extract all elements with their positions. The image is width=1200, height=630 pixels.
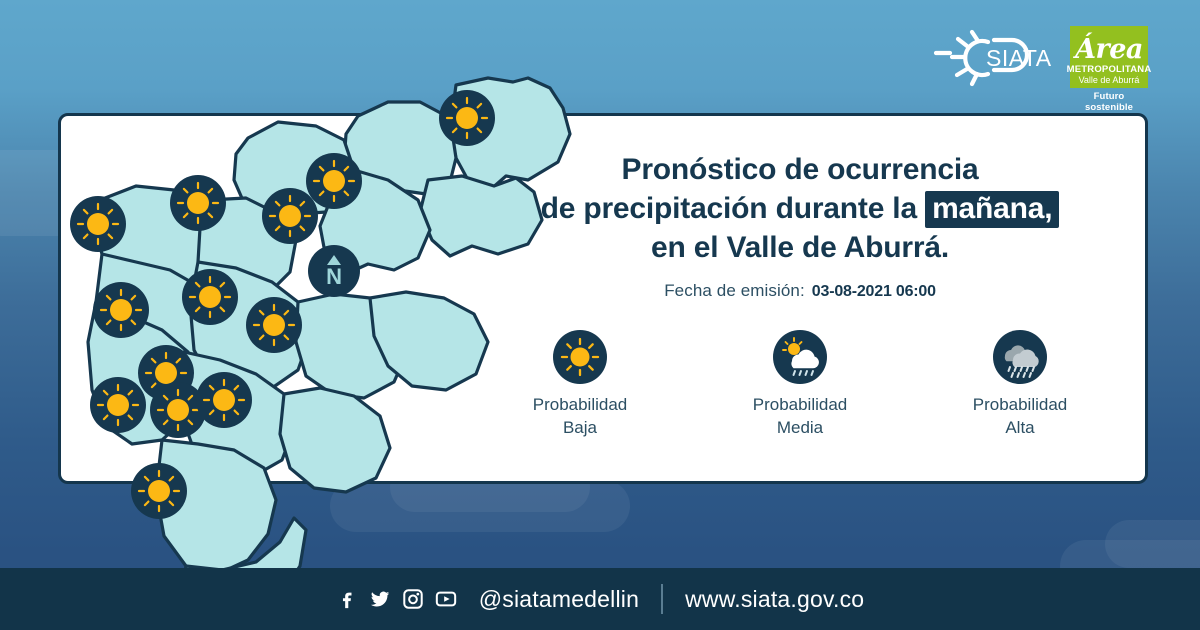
station-marker: [262, 188, 318, 244]
logo-group: SIATA Área METROPOLITANA Valle de Aburrá…: [928, 26, 1148, 113]
siata-logo: SIATA: [928, 26, 1056, 90]
station-marker: [170, 175, 226, 231]
cloud-heavy-rain-icon: [993, 330, 1047, 384]
station-marker: [70, 196, 126, 252]
page-title: Pronóstico de ocurrencia de precipitació…: [470, 150, 1130, 267]
legend-label-baja-line1: Probabilidad: [533, 393, 628, 416]
infographic-canvas: SIATA Área METROPOLITANA Valle de Aburrá…: [0, 0, 1200, 630]
station-marker: [90, 377, 146, 433]
issue-date: Fecha de emisión: 03-08-2021 06:00: [470, 281, 1130, 301]
social-icons: [336, 588, 457, 610]
instagram-icon[interactable]: [402, 588, 424, 610]
station-marker: [246, 297, 302, 353]
sky-cloud-decoration-6: [1105, 520, 1200, 568]
station-marker: [182, 269, 238, 325]
station-marker: [196, 372, 252, 428]
twitter-icon[interactable]: [369, 588, 391, 610]
legend-label-baja: Probabilidad Baja: [533, 393, 628, 439]
headline-line-1: Pronóstico de ocurrencia: [470, 150, 1130, 189]
ama-line1: METROPOLITANA: [1067, 65, 1152, 75]
issue-date-label: Fecha de emisión:: [664, 281, 805, 301]
sun-icon: [553, 330, 607, 384]
siata-logo-text: SIATA: [986, 45, 1052, 71]
station-marker: [93, 282, 149, 338]
station-marker: [131, 463, 187, 519]
legend-label-alta: Probabilidad Alta: [973, 393, 1068, 439]
footer-bar: @siatamedellin www.siata.gov.co: [0, 568, 1200, 630]
ama-script-text: Área: [1075, 35, 1143, 65]
headline-highlight: mañana,: [925, 191, 1059, 228]
legend-label-alta-line2: Alta: [973, 416, 1068, 439]
station-marker: [306, 153, 362, 209]
legend-item-media: Probabilidad Media: [710, 330, 890, 439]
forecast-text-block: Pronóstico de ocurrencia de precipitació…: [470, 150, 1130, 301]
legend-label-alta-line1: Probabilidad: [973, 393, 1068, 416]
sun-cloud-rain-icon: [773, 330, 827, 384]
valle-de-aburra-map: N: [58, 30, 578, 610]
social-handle[interactable]: @siatamedellin: [479, 586, 639, 613]
legend-label-media-line1: Probabilidad: [753, 393, 848, 416]
station-marker: [150, 382, 206, 438]
facebook-icon[interactable]: [336, 588, 358, 610]
headline-line-2: de precipitación durante la mañana,: [470, 189, 1130, 228]
legend-label-media-line2: Media: [753, 416, 848, 439]
legend-item-baja: Probabilidad Baja: [490, 330, 670, 439]
ama-green-box: Área METROPOLITANA Valle de Aburrá: [1070, 26, 1148, 88]
website-url[interactable]: www.siata.gov.co: [685, 586, 864, 613]
compass-label: N: [326, 264, 342, 289]
legend-label-baja-line2: Baja: [533, 416, 628, 439]
area-metropolitana-logo: Área METROPOLITANA Valle de Aburrá Futur…: [1070, 26, 1148, 113]
headline-line-3: en el Valle de Aburrá.: [470, 228, 1130, 267]
legend-label-media: Probabilidad Media: [753, 393, 848, 439]
probability-legend: Probabilidad Baja: [470, 330, 1130, 439]
station-marker: [439, 90, 495, 146]
footer-divider: [661, 584, 663, 614]
legend-item-alta: Probabilidad Alta: [930, 330, 1110, 439]
issue-date-value: 03-08-2021 06:00: [812, 283, 936, 301]
ama-tagline: Futuro sostenible: [1070, 91, 1148, 113]
headline-line-2-text: de precipitación durante la: [541, 192, 926, 225]
ama-line2: Valle de Aburrá: [1079, 75, 1140, 85]
compass-north-icon: N: [308, 245, 360, 297]
youtube-icon[interactable]: [435, 588, 457, 610]
